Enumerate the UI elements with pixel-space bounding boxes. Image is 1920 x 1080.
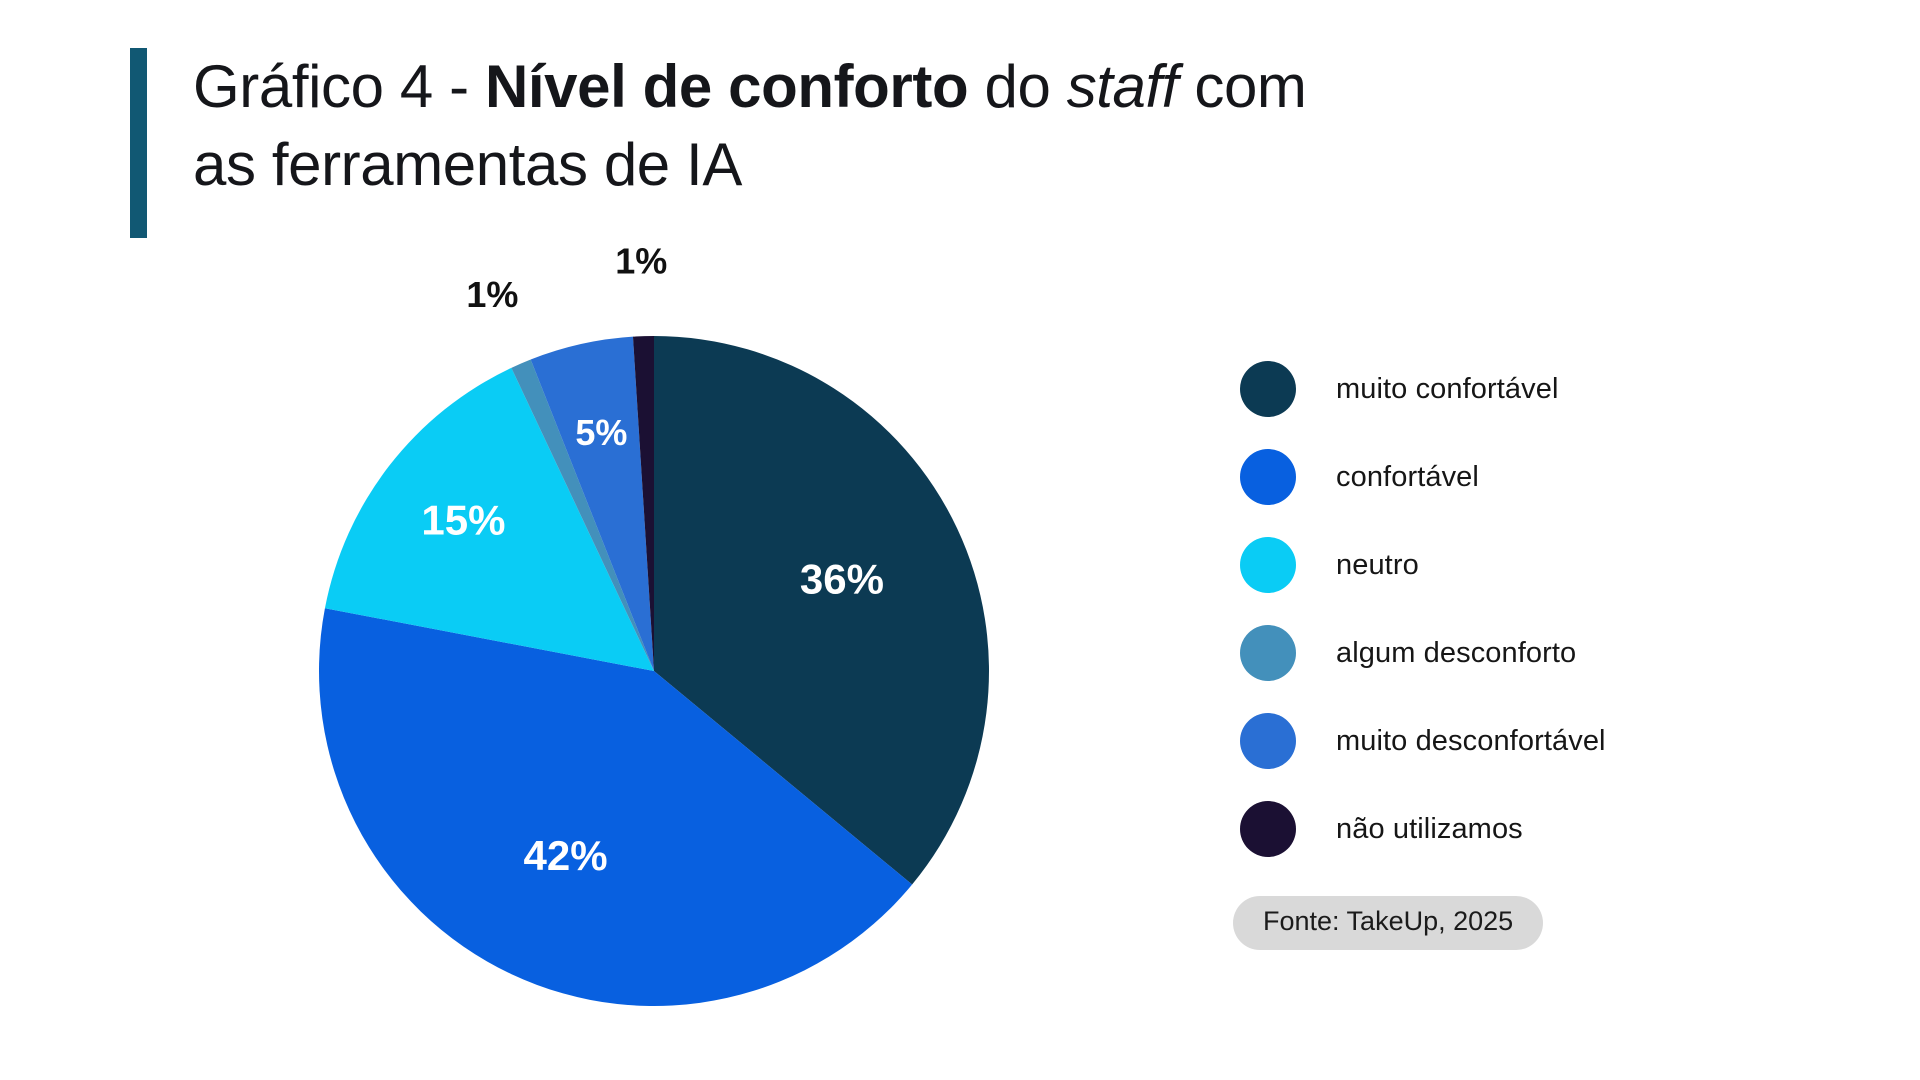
- pie-chart-svg: 36%42%15%5%: [318, 335, 990, 1007]
- pie-slice-label-outside: 1%: [615, 245, 667, 282]
- legend-swatch-icon: [1240, 801, 1296, 857]
- title-part-italic: staff: [1067, 53, 1178, 120]
- legend-swatch-icon: [1240, 537, 1296, 593]
- pie-slice-group: [319, 336, 989, 1006]
- pie-slice-label: 42%: [524, 832, 608, 879]
- pie-slice-label: 15%: [421, 496, 505, 543]
- slide-root: Gráfico 4 - Nível de conforto do staff c…: [0, 0, 1920, 1080]
- chart-legend: muito confortávelconfortávelneutroalgum …: [1240, 345, 1760, 873]
- pie-slice-label: 36%: [800, 556, 884, 603]
- pie-chart: 36%42%15%5% 1%1%: [318, 335, 990, 1007]
- legend-item-label: algum desconforto: [1336, 637, 1576, 670]
- title-part-1: Gráfico 4 -: [193, 53, 485, 120]
- legend-item[interactable]: neutro: [1240, 521, 1760, 609]
- title-accent-bar: [130, 48, 147, 238]
- legend-item-label: confortável: [1336, 461, 1479, 494]
- legend-item-label: muito confortável: [1336, 373, 1559, 406]
- legend-item[interactable]: algum desconforto: [1240, 609, 1760, 697]
- title-part-3: do: [968, 53, 1066, 120]
- legend-item[interactable]: confortável: [1240, 433, 1760, 521]
- legend-item-label: neutro: [1336, 549, 1419, 582]
- legend-item-label: muito desconfortável: [1336, 725, 1606, 758]
- legend-item[interactable]: não utilizamos: [1240, 785, 1760, 873]
- pie-slice-label: 5%: [575, 412, 627, 453]
- legend-swatch-icon: [1240, 449, 1296, 505]
- legend-swatch-icon: [1240, 713, 1296, 769]
- pie-slice-label-outside: 1%: [466, 274, 518, 315]
- legend-swatch-icon: [1240, 361, 1296, 417]
- legend-item[interactable]: muito confortável: [1240, 345, 1760, 433]
- legend-swatch-icon: [1240, 625, 1296, 681]
- source-badge: Fonte: TakeUp, 2025: [1233, 896, 1543, 950]
- legend-item[interactable]: muito desconfortável: [1240, 697, 1760, 785]
- legend-item-label: não utilizamos: [1336, 813, 1523, 846]
- title-part-bold: Nível de conforto: [485, 53, 968, 120]
- title-block: Gráfico 4 - Nível de conforto do staff c…: [130, 48, 1373, 238]
- page-title: Gráfico 4 - Nível de conforto do staff c…: [193, 48, 1373, 238]
